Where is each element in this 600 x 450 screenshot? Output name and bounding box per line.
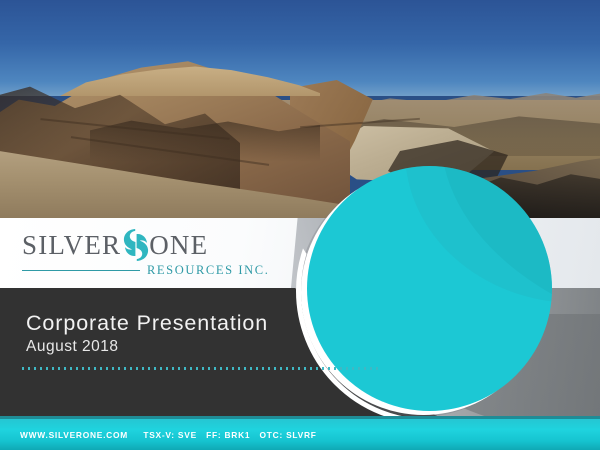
logo-wordmark: SILVER ONE xyxy=(22,226,208,264)
dotted-divider xyxy=(22,367,380,370)
slide-title: Corporate Presentation xyxy=(26,312,356,335)
footer-ticker-text[interactable]: WWW.SILVERONE.COM TSX-V: SVE FF: BRK1 OT… xyxy=(20,430,317,440)
logo-rule xyxy=(22,270,140,272)
title-block: Corporate Presentation August 2018 xyxy=(26,312,356,355)
company-logo[interactable]: SILVER ONE RESOURCES INC. xyxy=(22,226,252,282)
teal-wedge-overlay-light xyxy=(405,166,552,303)
logo-word-one: ONE xyxy=(149,232,208,259)
presentation-slide: SILVER ONE RESOURCES INC. Corporate Pres… xyxy=(0,0,600,450)
logo-tagline-row: RESOURCES INC. xyxy=(22,264,254,277)
swirl-monogram-icon xyxy=(119,226,153,264)
logo-tagline: RESOURCES INC. xyxy=(147,264,269,277)
logo-word-silver: SILVER xyxy=(22,232,121,259)
slide-subtitle-date: August 2018 xyxy=(26,338,356,355)
footer-bar: WWW.SILVERONE.COM TSX-V: SVE FF: BRK1 OT… xyxy=(0,419,600,450)
